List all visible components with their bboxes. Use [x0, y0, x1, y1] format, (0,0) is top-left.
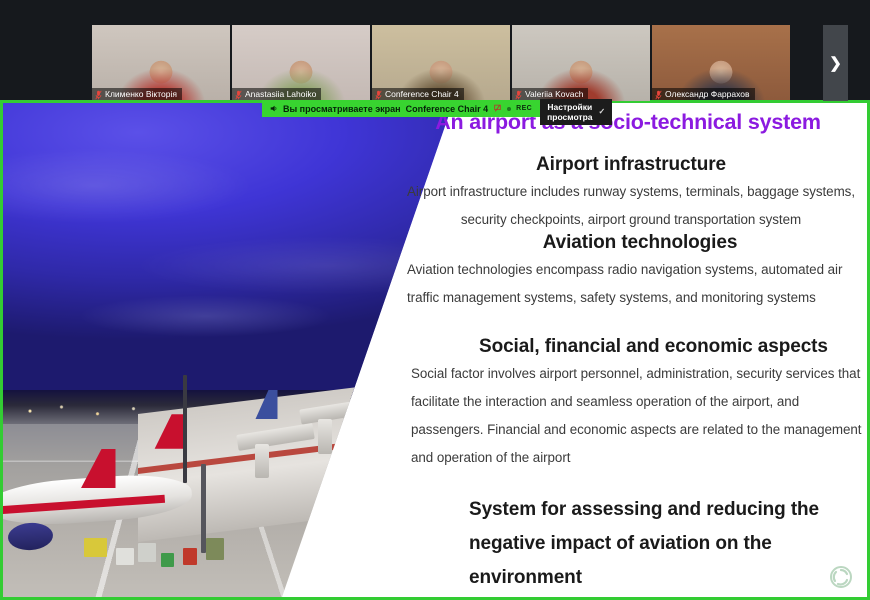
view-settings-label-line2: просмотра [547, 112, 592, 122]
share-presenter-name: Conference Chair 4 [406, 104, 489, 114]
participant-tile[interactable]: Клименко Вікторія [92, 25, 230, 101]
slide-text-layer: An airport as a socio-technical system A… [3, 103, 867, 597]
microphone-muted-icon [515, 90, 522, 100]
participant-tile[interactable]: Anastasiia Lahoiko [232, 25, 370, 101]
recording-indicator-dot [507, 107, 511, 111]
section-heading: Social, financial and economic aspects [411, 333, 867, 360]
participant-tile[interactable]: Олександр Фаррахов [652, 25, 790, 101]
share-status-pill: Вы просматриваете экран Conference Chair… [262, 100, 540, 117]
section-aviation-technologies: Aviation technologies Aviation technolog… [407, 229, 867, 312]
microphone-muted-icon [95, 90, 102, 100]
recording-label: REC [516, 105, 532, 112]
section-social-financial-economic: Social, financial and economic aspects S… [411, 333, 867, 472]
zoom-meeting-window: Клименко ВікторіяAnastasiia LahoikoConfe… [0, 0, 870, 600]
section-body: Social factor involves airport personnel… [411, 360, 867, 472]
screen-share-icon [493, 104, 502, 113]
participant-tile[interactable]: Conference Chair 4 [372, 25, 510, 101]
section-body: Aviation technologies encompass radio na… [407, 256, 867, 312]
screen-share-notification-bar: Вы просматриваете экран Conference Chair… [262, 100, 612, 117]
filmstrip-next-page-button[interactable]: ❯ [823, 25, 848, 101]
chevron-right-icon: ❯ [829, 54, 842, 72]
circular-logo-watermark [829, 565, 853, 589]
speaker-icon [269, 104, 278, 113]
section-heading: Aviation technologies [407, 229, 867, 256]
participant-name-label: Олександр Фаррахов [665, 89, 750, 100]
participant-tile[interactable]: Valeriia Kovach [512, 25, 650, 101]
section-environment-impact-system: System for assessing and reducing the ne… [469, 493, 867, 595]
microphone-muted-icon [235, 90, 242, 100]
share-message: Вы просматриваете экран [283, 104, 401, 114]
section-heading: Airport infrastructure [389, 151, 867, 178]
view-settings-label-line1: Настройки [547, 102, 592, 112]
participant-name-label: Anastasiia Lahoiko [245, 89, 316, 100]
participant-name-label: Conference Chair 4 [385, 89, 459, 100]
section-airport-infrastructure: Airport infrastructure Airport infrastru… [389, 151, 867, 234]
chevron-down-icon: ✓ [599, 107, 606, 117]
presentation-slide: An airport as a socio-technical system A… [3, 103, 867, 597]
participant-name-label: Клименко Вікторія [105, 89, 177, 100]
microphone-muted-icon [375, 90, 382, 100]
section-heading: System for assessing and reducing the ne… [469, 493, 867, 595]
microphone-muted-icon [655, 90, 662, 100]
shared-screen-region: An airport as a socio-technical system A… [0, 100, 870, 600]
section-body: Airport infrastructure includes runway s… [389, 178, 867, 234]
view-settings-button[interactable]: Настройки просмотра ✓ [540, 99, 612, 125]
participant-filmstrip: Клименко ВікторіяAnastasiia LahoikoConfe… [0, 0, 870, 101]
